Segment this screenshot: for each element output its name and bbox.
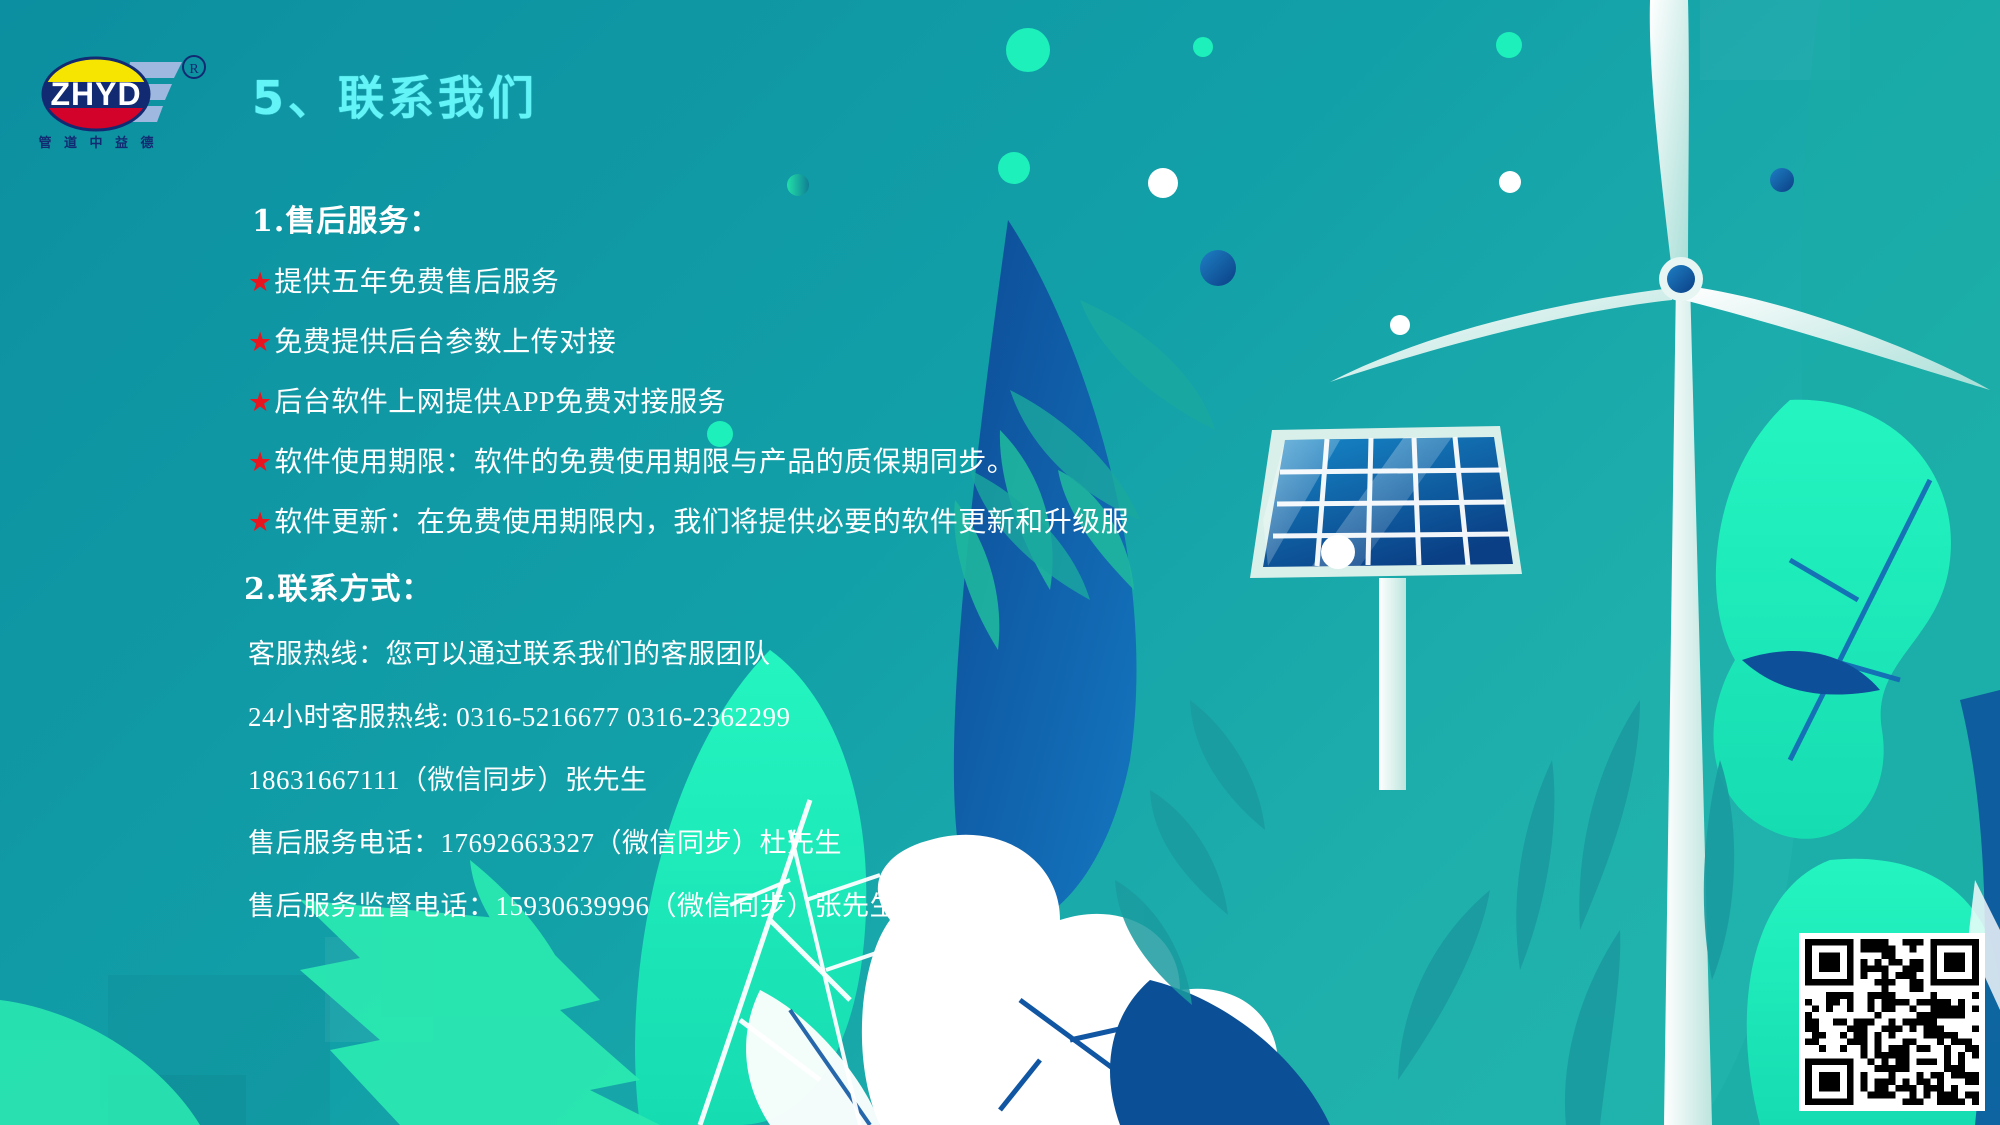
contact-line: 售后服务电话：17692663327（微信同步）杜先生 xyxy=(248,821,1308,860)
section-heading-contact: 2.联系方式： xyxy=(244,564,1308,608)
star-icon: ★ xyxy=(248,389,272,416)
bullet-text: 提供五年免费售后服务 xyxy=(274,260,559,300)
bullet-text: 免费提供后台参数上传对接 xyxy=(274,320,616,360)
bullet-item: ★ 后台软件上网提供APP免费对接服务 xyxy=(248,380,1308,420)
star-icon: ★ xyxy=(248,269,272,296)
contact-line: 24小时客服热线: 0316-5216677 0316-2362299 xyxy=(248,695,1308,734)
section-heading-after-sales: 1.售后服务： xyxy=(252,196,1308,240)
bullet-item: ★ 软件更新：在免费使用期限内，我们将提供必要的软件更新和升级服 xyxy=(248,500,1308,540)
star-icon: ★ xyxy=(248,329,272,356)
bullet-text: 后台软件上网提供APP免费对接服务 xyxy=(274,380,726,420)
svg-text:ZHYD: ZHYD xyxy=(50,76,141,112)
bullet-text: 软件更新：在免费使用期限内，我们将提供必要的软件更新和升级服 xyxy=(274,500,1129,540)
logo-subtitle: 管 道 中 益 德 xyxy=(38,135,157,151)
svg-text:R: R xyxy=(189,62,199,77)
registered-trademark-icon: R xyxy=(183,56,205,78)
qr-code[interactable] xyxy=(1799,933,1985,1111)
bullet-item: ★ 免费提供后台参数上传对接 xyxy=(248,320,1308,360)
contact-line: 18631667111（微信同步）张先生 xyxy=(248,758,1308,797)
bullet-item: ★ 软件使用期限：软件的免费使用期限与产品的质保期同步。 xyxy=(248,440,1308,480)
contact-line: 售后服务监督电话：15930639996（微信同步）张先生 xyxy=(248,884,1308,923)
contact-line: 客服热线：您可以通过联系我们的客服团队 xyxy=(248,632,1308,671)
company-logo: ZHYD R 管 道 中 益 德 xyxy=(34,52,224,152)
slide-root: ZHYD R 管 道 中 益 德 5、联系我们 1.售后服务： ★ 提供五年免费… xyxy=(0,0,2000,1125)
star-icon: ★ xyxy=(248,509,272,536)
bullet-item: ★ 提供五年免费售后服务 xyxy=(248,260,1308,300)
bullet-text: 软件使用期限：软件的免费使用期限与产品的质保期同步。 xyxy=(274,440,1015,480)
star-icon: ★ xyxy=(248,449,272,476)
content-body: 1.售后服务： ★ 提供五年免费售后服务 ★ 免费提供后台参数上传对接 ★ 后台… xyxy=(248,196,1308,923)
page-title: 5、联系我们 xyxy=(252,62,538,128)
